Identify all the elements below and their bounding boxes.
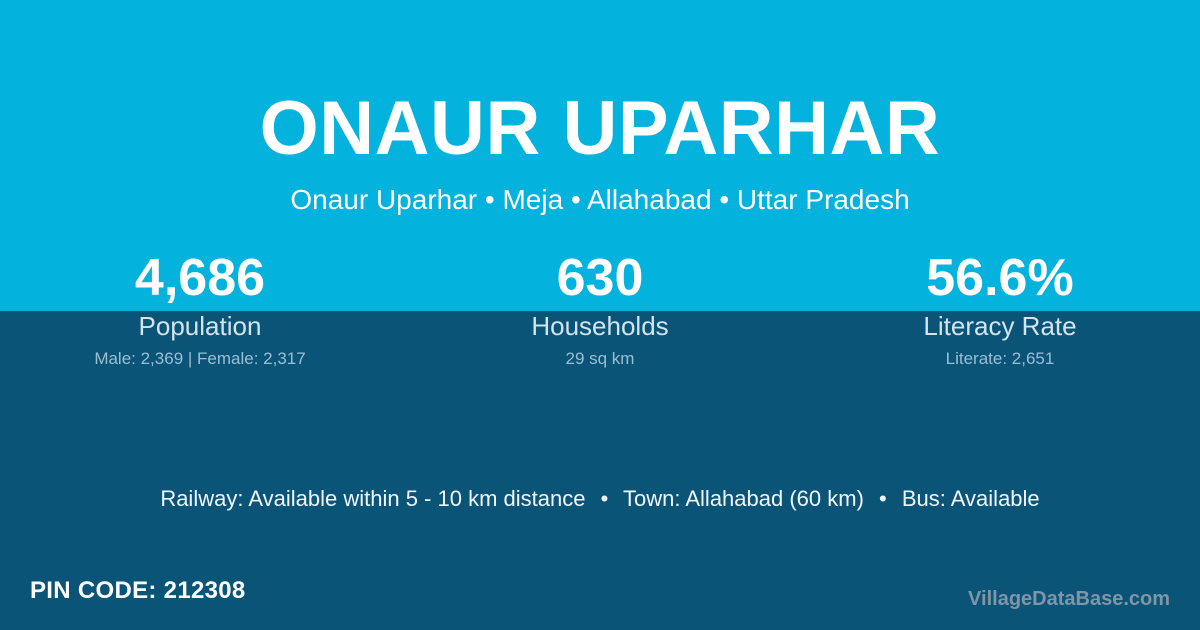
stat-label: Households bbox=[400, 311, 800, 341]
pin-code: PIN CODE: 212308 bbox=[30, 576, 246, 606]
stat-label: Literacy Rate bbox=[800, 311, 1200, 341]
page-title: ONAUR UPARHAR bbox=[0, 88, 1200, 170]
stat-population: 4,686 Population Male: 2,369 | Female: 2… bbox=[0, 248, 400, 369]
stat-label: Population bbox=[0, 311, 400, 341]
amenity-bus: Bus: Available bbox=[902, 486, 1040, 511]
amenity-separator: • bbox=[870, 484, 896, 514]
stat-value: 56.6% bbox=[800, 248, 1200, 308]
site-watermark: VillageDataBase.com bbox=[968, 586, 1170, 612]
amenity-separator: • bbox=[592, 484, 618, 514]
stat-sublabel: Literate: 2,651 bbox=[800, 349, 1200, 369]
amenity-railway: Railway: Available within 5 - 10 km dist… bbox=[160, 486, 585, 511]
amenity-town: Town: Allahabad (60 km) bbox=[623, 486, 864, 511]
stat-value: 4,686 bbox=[0, 248, 400, 308]
village-info-card: ONAUR UPARHAR Onaur Uparhar • Meja • All… bbox=[0, 0, 1200, 630]
amenities-line: Railway: Available within 5 - 10 km dist… bbox=[0, 484, 1200, 514]
stat-literacy-rate: 56.6% Literacy Rate Literate: 2,651 bbox=[800, 248, 1200, 369]
breadcrumb: Onaur Uparhar • Meja • Allahabad • Uttar… bbox=[0, 183, 1200, 217]
stats-row: 4,686 Population Male: 2,369 | Female: 2… bbox=[0, 248, 1200, 369]
stat-sublabel: Male: 2,369 | Female: 2,317 bbox=[0, 349, 400, 369]
stat-value: 630 bbox=[400, 248, 800, 308]
stat-sublabel: 29 sq km bbox=[400, 349, 800, 369]
stat-households: 630 Households 29 sq km bbox=[400, 248, 800, 369]
